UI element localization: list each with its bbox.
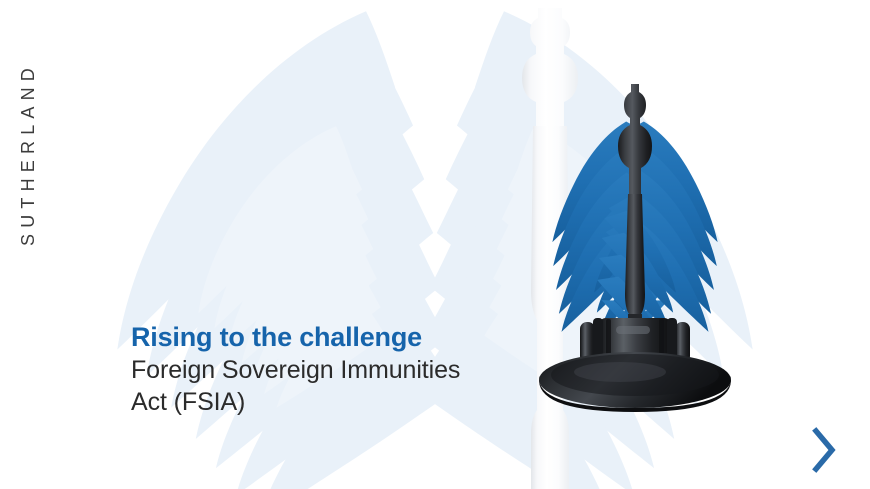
banner-subhead-line-1: Foreign Sovereign Immunities — [131, 353, 551, 385]
logo-word-eversheds-text: EVERSHEDS — [0, 71, 3, 238]
chevron-right-icon[interactable] — [811, 427, 837, 473]
logo-word-sutherland: SUTHERLAND — [78, 18, 102, 290]
brand-logo[interactable]: EVERSHEDS SUTHERLAND — [24, 18, 120, 290]
banner-headline: Rising to the challenge — [131, 322, 551, 353]
banner-text-block: Rising to the challenge Foreign Sovereig… — [131, 322, 551, 417]
banner-subhead-line-2: Act (FSIA) — [131, 385, 551, 417]
logo-word-eversheds: EVERSHEDS — [41, 18, 65, 290]
logo-word-sutherland-text: SUTHERLAND — [16, 62, 40, 246]
next-slide-button[interactable] — [798, 420, 850, 480]
hero-banner: EVERSHEDS SUTHERLAND Rising to the chall… — [0, 0, 870, 489]
